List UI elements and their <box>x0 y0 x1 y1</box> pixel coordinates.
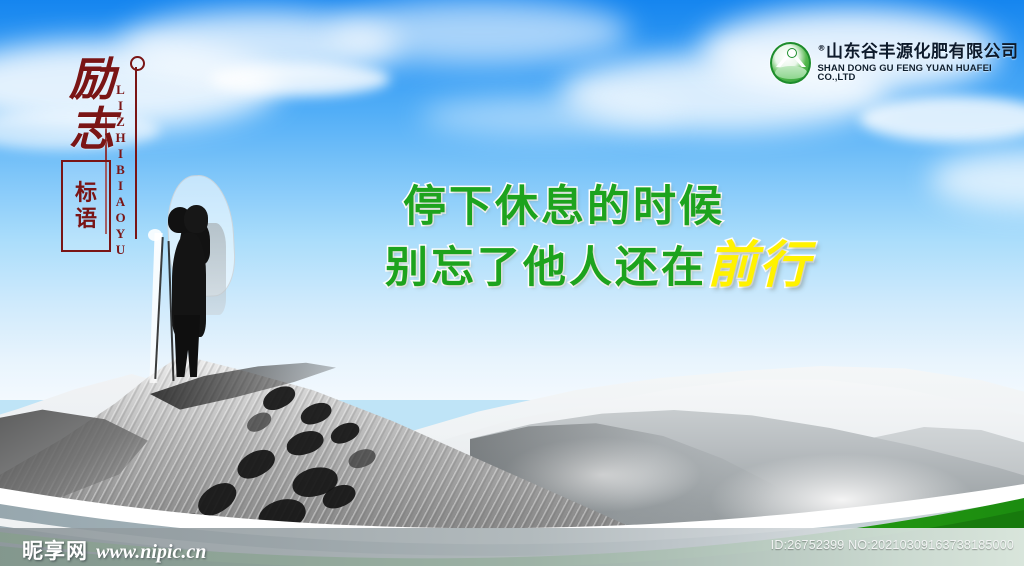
company-logo-block: ®山东谷丰源化肥有限公司 SHAN DONG GU FENG YUAN HUAF… <box>770 42 1024 84</box>
pinyin-label: LIZHIBIAOYU <box>112 82 128 258</box>
watermark-block: 昵享网 www.nipic.cn <box>22 535 206 565</box>
pin-circle-icon <box>130 56 145 71</box>
logo-dot-shape <box>787 48 797 58</box>
logo-pool-shape <box>775 66 807 79</box>
company-name-en: SHAN DONG GU FENG YUAN HUAFEI CO.,LTD <box>818 64 1024 83</box>
hiker-hood <box>184 205 208 233</box>
company-name-block: ®山东谷丰源化肥有限公司 SHAN DONG GU FENG YUAN HUAF… <box>818 44 1024 83</box>
company-logo-icon <box>770 42 811 84</box>
biaoyu-char-2: 语 <box>75 206 97 232</box>
watermark-url: www.nipic.cn <box>96 541 206 564</box>
biaoyu-char-1: 标 <box>75 180 97 206</box>
headline-line-2-plain: 别忘了他人还在 <box>385 243 707 293</box>
headline-accent: 前行 <box>707 235 811 294</box>
biaoyu-box: 标 语 <box>61 160 111 252</box>
headline-block: 停下休息的时候 别忘了他人还在前行 <box>385 178 855 297</box>
company-name-cn: ®山东谷丰源化肥有限公司 <box>818 44 1024 61</box>
headline-line-2: 别忘了他人还在前行 <box>385 236 855 297</box>
image-id-label: ID:26752399 NO:20210309163738185000 <box>771 538 1014 552</box>
poster-canvas: 励志 LIZHIBIAOYU 标 语 停下休息的时候 别忘了他人还在前行 ®山东… <box>0 0 1024 566</box>
headline-line-1: 停下休息的时候 <box>403 178 855 236</box>
watermark-cn: 昵享网 <box>22 535 88 565</box>
hiker-silhouette-icon <box>140 175 250 375</box>
lizhi-decoration: 励志 LIZHIBIAOYU 标 语 <box>55 52 151 252</box>
pin-line-icon <box>135 67 137 239</box>
cloud-decor <box>420 96 680 136</box>
hiker-legs <box>174 315 200 377</box>
company-name-cn-text: 山东谷丰源化肥有限公司 <box>826 42 1019 62</box>
cloud-decor <box>210 62 390 96</box>
registered-mark: ® <box>818 43 827 52</box>
footer-watermark-bar: 昵享网 www.nipic.cn ID:26752399 NO:20210309… <box>0 528 1024 566</box>
cloud-decor <box>330 0 630 64</box>
